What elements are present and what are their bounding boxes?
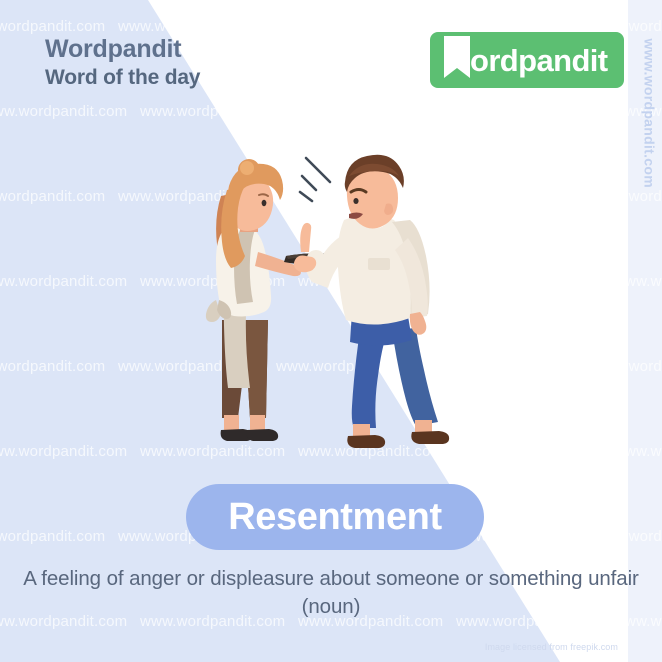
brand-title: Wordpandit [45, 36, 200, 62]
logo-text: ordpandit [470, 45, 608, 76]
word-badge: Resentment [186, 484, 484, 550]
definition-block: A feeling of anger or displeasure about … [0, 566, 662, 621]
image-credit: Image licensed from freepik.com [485, 642, 618, 652]
character-waitress [206, 159, 335, 441]
part-of-speech: (noun) [0, 592, 662, 622]
wordpandit-logo[interactable]: ordpandit [430, 32, 624, 88]
definition-text: A feeling of anger or displeasure about … [0, 566, 662, 592]
anger-lines [300, 158, 330, 201]
bookmark-w-icon [440, 32, 474, 88]
header: Wordpandit Word of the day [45, 36, 200, 92]
word-term: Resentment [228, 498, 442, 536]
header-subtitle: Word of the day [45, 64, 200, 91]
word-of-the-day-card: www.wordpandit.comwww.wordpandit.comwww.… [0, 0, 662, 662]
character-angry-man [294, 155, 449, 448]
illustration [0, 0, 662, 662]
